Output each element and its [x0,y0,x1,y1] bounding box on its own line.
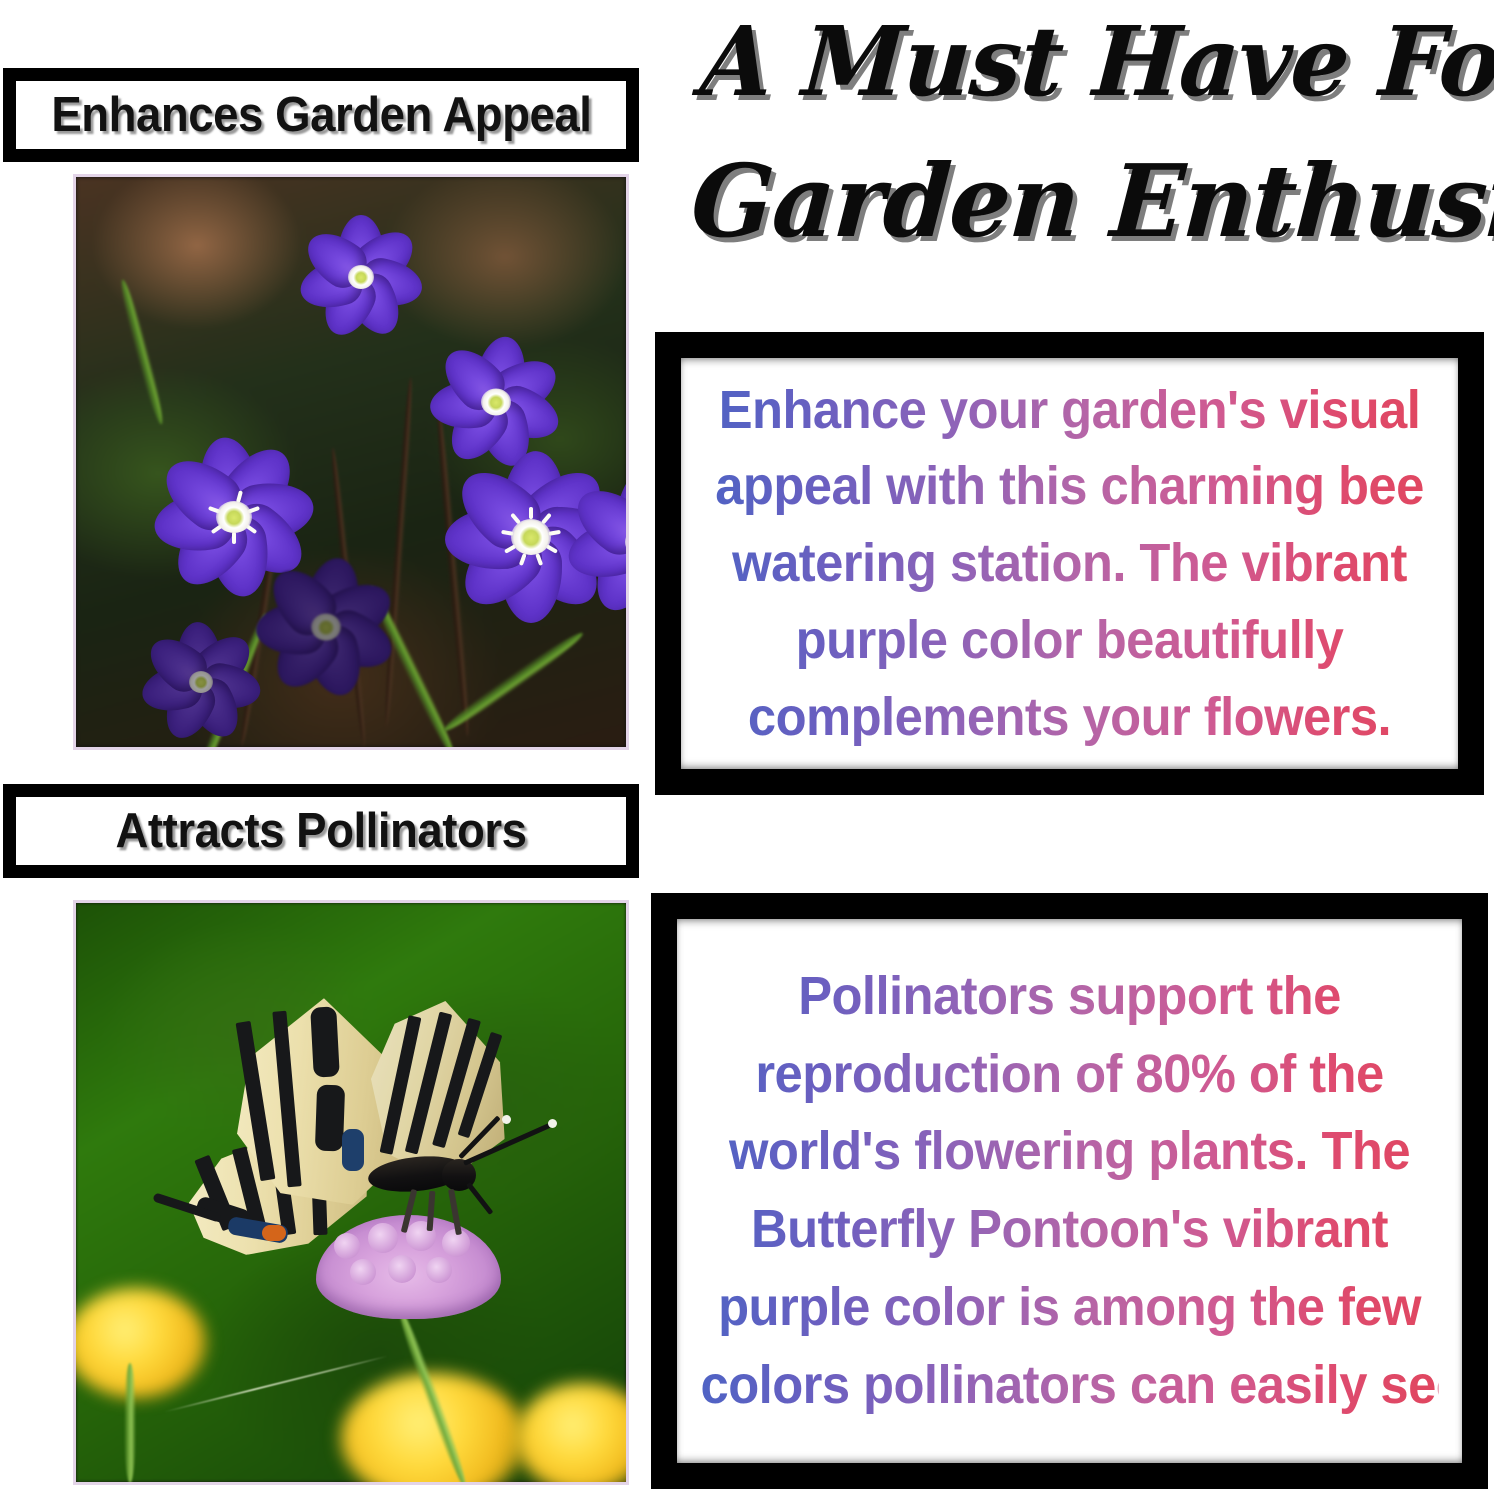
paragraph-line: Butterfly Pontoon's vibrant [701,1191,1439,1269]
paragraph-line: complements your flowers. [704,679,1434,756]
feature-label-enhances-garden-appeal: Enhances Garden Appeal [3,68,639,162]
feature-text-panel-pollinators: Pollinators support the reproduction of … [651,893,1488,1489]
hepatica-flower [276,207,446,347]
paragraph-line: purple color beautifully [704,602,1434,679]
photo-purple-hepatica-flowers [73,174,629,750]
photo-canvas [76,903,626,1482]
paragraph-line: Pollinators support the [701,958,1439,1036]
headline-line-1: A Must Have For [697,0,1465,130]
wing-patch [315,1085,345,1152]
hepatica-flower-shadowed [126,617,276,747]
panel-inner: Pollinators support the reproduction of … [677,919,1462,1463]
scabiosa-floret [350,1259,376,1285]
paragraph-line: colors pollinators can easily see. [701,1347,1439,1425]
photo-canvas [76,177,626,747]
paragraph-line: watering station. The vibrant [704,525,1434,602]
wing-patch [310,1006,340,1077]
scabiosa-floret [426,1257,452,1283]
feature-label-text: Attracts Pollinators [115,803,526,859]
scabiosa-floret [388,1255,416,1283]
paragraph-line: purple color is among the few [701,1269,1439,1347]
antenna-tip [548,1119,557,1128]
feature-label-attracts-pollinators: Attracts Pollinators [3,784,639,878]
panel-inner: Enhance your garden's visual appeal with… [681,358,1458,769]
paragraph-line: reproduction of 80% of the [701,1036,1439,1114]
headline-line-2: Garden Enthusiasts [687,130,1455,272]
paragraph-line: world's flowering plants. The [701,1113,1439,1191]
hepatica-flower [546,457,629,627]
scabiosa-floret [368,1223,398,1253]
feature-label-text: Enhances Garden Appeal [51,87,591,143]
paragraph-line: appeal with this charming bee [704,448,1434,525]
infographic-canvas: A Must Have For Garden Enthusiasts Enhan… [0,0,1494,1500]
wing-blue-patch [342,1129,364,1171]
antenna-tip [502,1115,511,1124]
headline: A Must Have For Garden Enthusiasts [687,0,1464,272]
wing-orange-spot [262,1225,286,1241]
flower-stem [124,1363,136,1483]
scabiosa-floret [334,1233,360,1259]
photo-swallowtail-butterfly [73,900,629,1485]
feature-text-panel-garden-appeal: Enhance your garden's visual appeal with… [655,332,1484,795]
paragraph-line: Enhance your garden's visual [704,372,1434,449]
